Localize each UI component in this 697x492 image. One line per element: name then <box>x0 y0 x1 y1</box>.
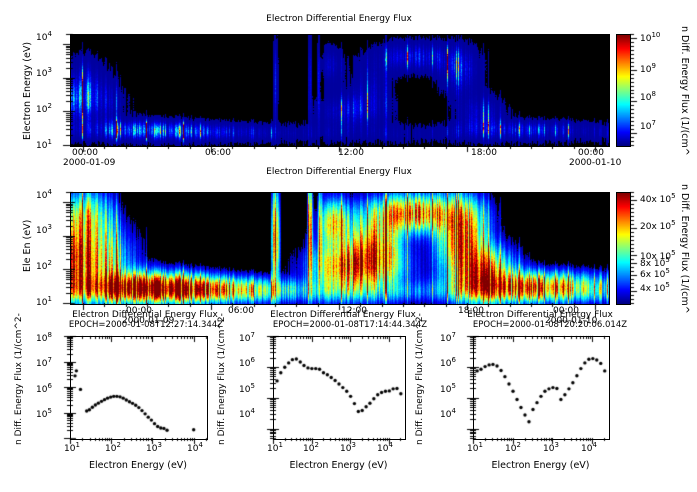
top-ytick-0: 104 <box>36 30 52 43</box>
mid-ytick-0: 104 <box>36 188 52 201</box>
spectrum-2-ylabel: n Diff. Energy Flux (1/(cm^2- <box>217 313 227 445</box>
sp2-xtick-3: 104 <box>377 441 393 454</box>
mid-cbtick-5: 4x 105 <box>640 281 670 294</box>
top-ytick-2: 102 <box>36 102 52 115</box>
top-xtick-1: 06:00 <box>205 148 231 158</box>
mid-cbtick-1: 20x 105 <box>640 219 676 232</box>
mid-ytick-2: 102 <box>36 259 52 272</box>
middle-colorbar <box>616 192 631 305</box>
sp3-xtick-3: 104 <box>581 441 597 454</box>
top-cbtick-3: 107 <box>640 119 656 132</box>
sp1-xtick-3: 104 <box>187 441 203 454</box>
spectrum-1-ylabel: n Diff. Energy Flux (1/(cm^2- <box>14 313 24 445</box>
sp1-ytick-2: 106 <box>36 382 52 395</box>
sp2-xtick-1: 102 <box>303 441 319 454</box>
top-ylabel: Electron Energy (eV) <box>22 42 33 140</box>
sp2-xtick-0: 101 <box>267 441 283 454</box>
sp3-xtick-2: 103 <box>543 441 559 454</box>
middle-colorbar-label: n Diff. Energy Flux (1/(cm^ <box>679 184 690 314</box>
sp3-xtick-0: 101 <box>467 441 483 454</box>
middle-ylabel: Ele En (eV) <box>22 220 33 272</box>
top-colorbar-label: n Diff. Energy Flux (1/(cm^ <box>679 26 690 156</box>
spectrum-2-plot <box>273 336 406 440</box>
top-cbtick-0: 1010 <box>640 31 660 44</box>
mid-xtick-1: 06:00 <box>228 306 254 316</box>
sp2-ytick-1: 106 <box>239 356 255 369</box>
spectrum-3-xlabel: Electron Energy (eV) <box>473 460 608 471</box>
sp2-ytick-0: 107 <box>239 331 255 344</box>
middle-panel-title: Electron Differential Energy Flux <box>70 167 608 177</box>
spectrum-1-xlabel: Electron Energy (eV) <box>70 460 206 471</box>
mid-cbtick-0: 40x 105 <box>640 192 676 205</box>
mid-ytick-1: 103 <box>36 223 52 236</box>
sp1-xtick-1: 102 <box>105 441 121 454</box>
sp1-xtick-0: 101 <box>64 441 80 454</box>
top-xtick-3: 18:00 <box>471 148 497 158</box>
spectrum-2-xlabel: Electron Energy (eV) <box>273 460 404 471</box>
sp1-ytick-3: 105 <box>36 407 52 420</box>
mid-ytick-3: 101 <box>36 295 52 308</box>
sp2-ytick-3: 104 <box>239 407 255 420</box>
spectrum-2-ylabel-wrap: n Diff. Energy Flux (1/(cm^2- <box>217 445 349 455</box>
spectrum-2-title: Electron Differential Energy Flux <box>268 310 418 320</box>
sp3-ytick-1: 106 <box>440 356 456 369</box>
top-colorbar <box>616 34 631 147</box>
spectrum-1-subtitle: EPOCH=2000-01-08T12:27:14.344Z <box>46 320 246 330</box>
spectrum-1-ylabel-wrap: n Diff. Energy Flux (1/(cm^2- <box>14 445 146 455</box>
top-colorbar-label-wrap: n Diff. Energy Flux (1/(cm^ <box>690 26 697 37</box>
mid-cbtick-4: 6x 105 <box>640 267 670 280</box>
top-ytick-1: 103 <box>36 66 52 79</box>
spectrum-3-plot <box>473 336 610 440</box>
top-panel-title: Electron Differential Energy Flux <box>70 14 608 24</box>
sp2-ytick-2: 105 <box>239 382 255 395</box>
middle-colorbar-label-wrap: n Diff. Energy Flux (1/(cm^ <box>690 184 697 195</box>
sp3-ytick-0: 107 <box>440 331 456 344</box>
spectrum-3-title: Electron Differential Energy Flux <box>465 310 615 320</box>
sp1-ytick-0: 108 <box>36 331 52 344</box>
top-cbtick-1: 109 <box>640 62 656 75</box>
spectrum-3-subtitle: EPOCH=2000-01-08T20:20:06.014Z <box>450 320 650 330</box>
top-xtick-0: 00:00 <box>72 148 98 158</box>
middle-colorbar-ticks <box>630 190 640 305</box>
sp2-xtick-2: 103 <box>340 441 356 454</box>
top-ytick-3: 101 <box>36 138 52 151</box>
middle-ylabel-wrap: Ele En (eV) <box>22 272 74 283</box>
spectrum-1-plot <box>70 336 208 440</box>
top-cbtick-2: 108 <box>640 90 656 103</box>
sp1-xtick-2: 103 <box>146 441 162 454</box>
top-xtick-2: 12:00 <box>338 148 364 158</box>
sp3-ytick-3: 104 <box>440 407 456 420</box>
top-spectrogram <box>70 34 610 147</box>
sp3-ytick-2: 105 <box>440 382 456 395</box>
sp1-ytick-1: 107 <box>36 356 52 369</box>
spectrum-3-ylabel: n Diff. Energy Flux (1/(cm^2- <box>415 313 425 445</box>
sp3-xtick-1: 102 <box>505 441 521 454</box>
top-colorbar-ticks <box>630 32 640 147</box>
spectrum-1-title: Electron Differential Energy Flux <box>70 310 220 320</box>
middle-spectrogram <box>70 192 610 305</box>
top-xtick-4: 00:00 <box>578 148 604 158</box>
